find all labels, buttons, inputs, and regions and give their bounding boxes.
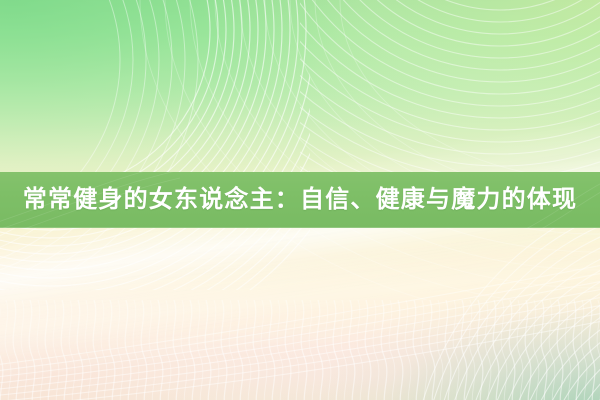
page-title: 常常健身的女东说念主：自信、健康与魔力的体现 <box>23 188 577 212</box>
title-band: 常常健身的女东说念主：自信、健康与魔力的体现 <box>0 172 600 228</box>
banner-image: 常常健身的女东说念主：自信、健康与魔力的体现 <box>0 0 600 400</box>
